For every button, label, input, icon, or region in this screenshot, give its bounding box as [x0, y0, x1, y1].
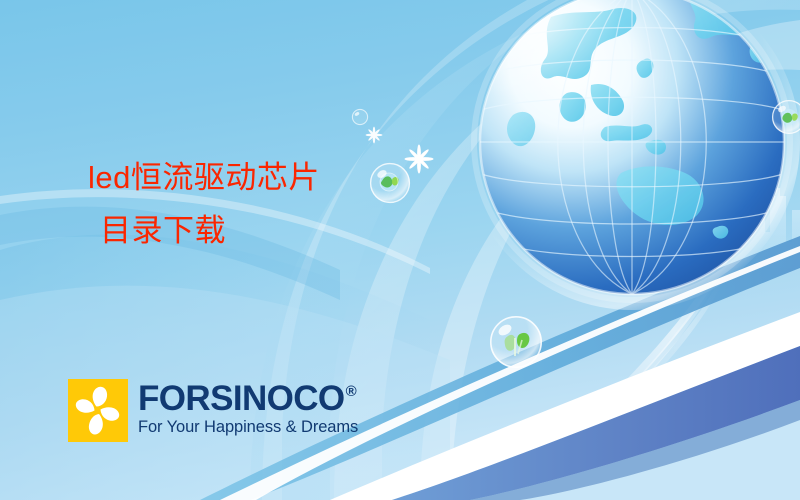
logo-text-block: FORSINOCO ® For Your Happiness & Dreams — [138, 379, 358, 437]
logo-wordmark-text: FORSINOCO — [138, 381, 345, 417]
bubble-globe-right — [770, 98, 800, 136]
bubble-leaves — [488, 314, 544, 370]
logo-wordmark: FORSINOCO ® — [138, 381, 358, 417]
headline-line-1: led恒流驱动芯片 — [88, 162, 418, 193]
forsinoco-pinwheel-flower-icon — [68, 379, 128, 442]
bubble-tiny-top — [351, 108, 369, 126]
forsinoco-logo[interactable]: FORSINOCO ® For Your Happiness & Dreams — [68, 379, 358, 442]
registered-trademark-symbol: ® — [346, 384, 356, 399]
page-title: led恒流驱动芯片 目录下载 — [88, 162, 418, 246]
earth-globe — [455, 0, 800, 320]
banner-canvas: led恒流驱动芯片 目录下载 FORSINOCO ® For Your Happ… — [0, 0, 800, 500]
headline-line-2: 目录下载 — [88, 215, 418, 246]
logo-tagline: For Your Happiness & Dreams — [138, 418, 358, 437]
sparkle-asterisk-small — [365, 126, 383, 144]
